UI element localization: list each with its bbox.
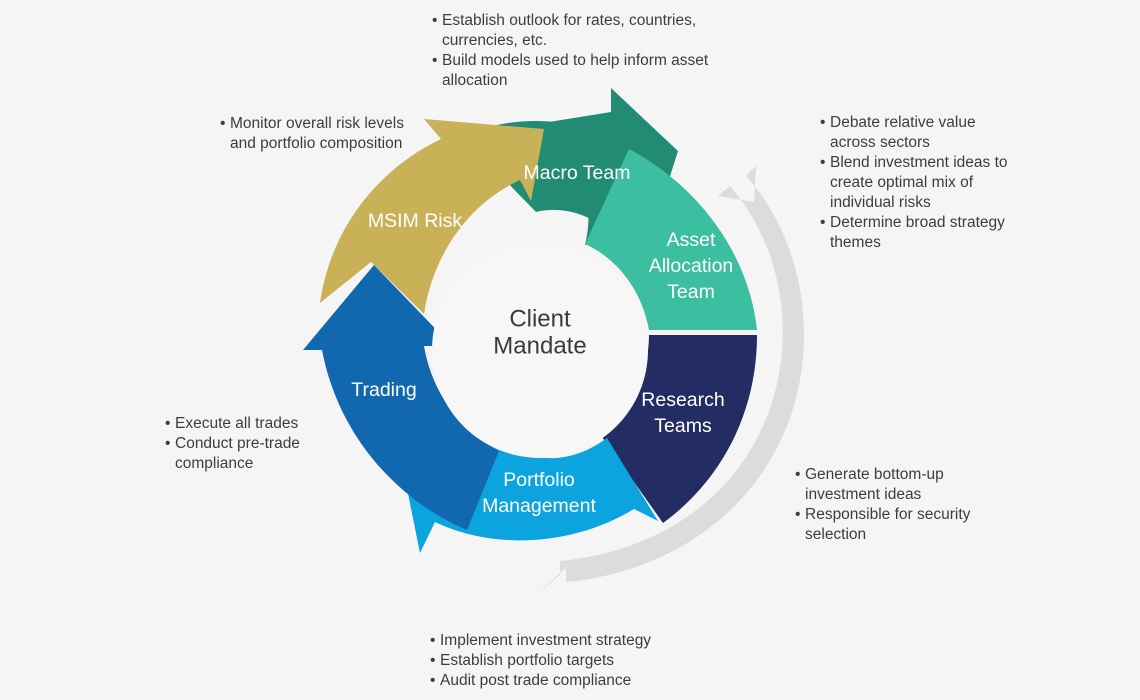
annotation-item: Responsible for security selection [795,505,990,545]
annotation-research-teams: Generate bottom-up investment ideas Resp… [795,465,990,545]
cycle-wheel: Macro Team Asset Allocation Team Researc… [0,0,1140,700]
svg-text:Research: Research [641,389,724,411]
segment-label-trading: Trading [351,379,416,401]
svg-text:Teams: Teams [654,415,712,437]
annotation-item: Execute all trades [165,414,345,434]
annotation-item: Establish outlook for rates, countries, … [432,11,722,51]
annotation-item: Implement investment strategy [430,631,730,651]
annotation-macro-team: Establish outlook for rates, countries, … [432,11,722,91]
annotation-item: Blend investment ideas to create optimal… [820,153,1020,213]
annotation-list: Implement investment strategy Establish … [430,631,730,691]
annotation-item: Audit post trade compliance [430,671,730,691]
annotation-list: Monitor overall risk levels and portfoli… [220,114,405,154]
process-cycle-diagram: Macro Team Asset Allocation Team Researc… [0,0,1140,700]
annotation-asset-allocation-team: Debate relative value across sectors Ble… [820,113,1020,253]
svg-text:Mandate: Mandate [493,332,586,359]
svg-text:Asset: Asset [667,229,716,251]
annotation-item: Build models used to help inform asset a… [432,51,722,91]
annotation-item: Conduct pre-trade compliance [165,434,345,474]
annotation-item: Monitor overall risk levels and portfoli… [220,114,405,154]
annotation-portfolio-management: Implement investment strategy Establish … [430,631,730,691]
svg-text:Management: Management [482,495,596,517]
svg-text:Portfolio: Portfolio [503,469,575,491]
annotation-list: Debate relative value across sectors Ble… [820,113,1020,253]
svg-text:Client: Client [509,305,571,332]
segment-label-msim-risk: MSIM Risk [368,210,462,232]
annotation-item: Establish portfolio targets [430,651,730,671]
annotation-list: Generate bottom-up investment ideas Resp… [795,465,990,545]
svg-text:Allocation: Allocation [649,255,734,277]
annotation-trading: Execute all trades Conduct pre-trade com… [165,414,345,474]
segment-label-macro-team: Macro Team [524,162,631,184]
annotation-item: Generate bottom-up investment ideas [795,465,990,505]
svg-text:Team: Team [667,281,715,303]
annotation-item: Determine broad strategy themes [820,213,1020,253]
annotation-list: Establish outlook for rates, countries, … [432,11,722,91]
annotation-msim-risk: Monitor overall risk levels and portfoli… [220,114,405,154]
annotation-item: Debate relative value across sectors [820,113,1020,153]
annotation-list: Execute all trades Conduct pre-trade com… [165,414,345,474]
